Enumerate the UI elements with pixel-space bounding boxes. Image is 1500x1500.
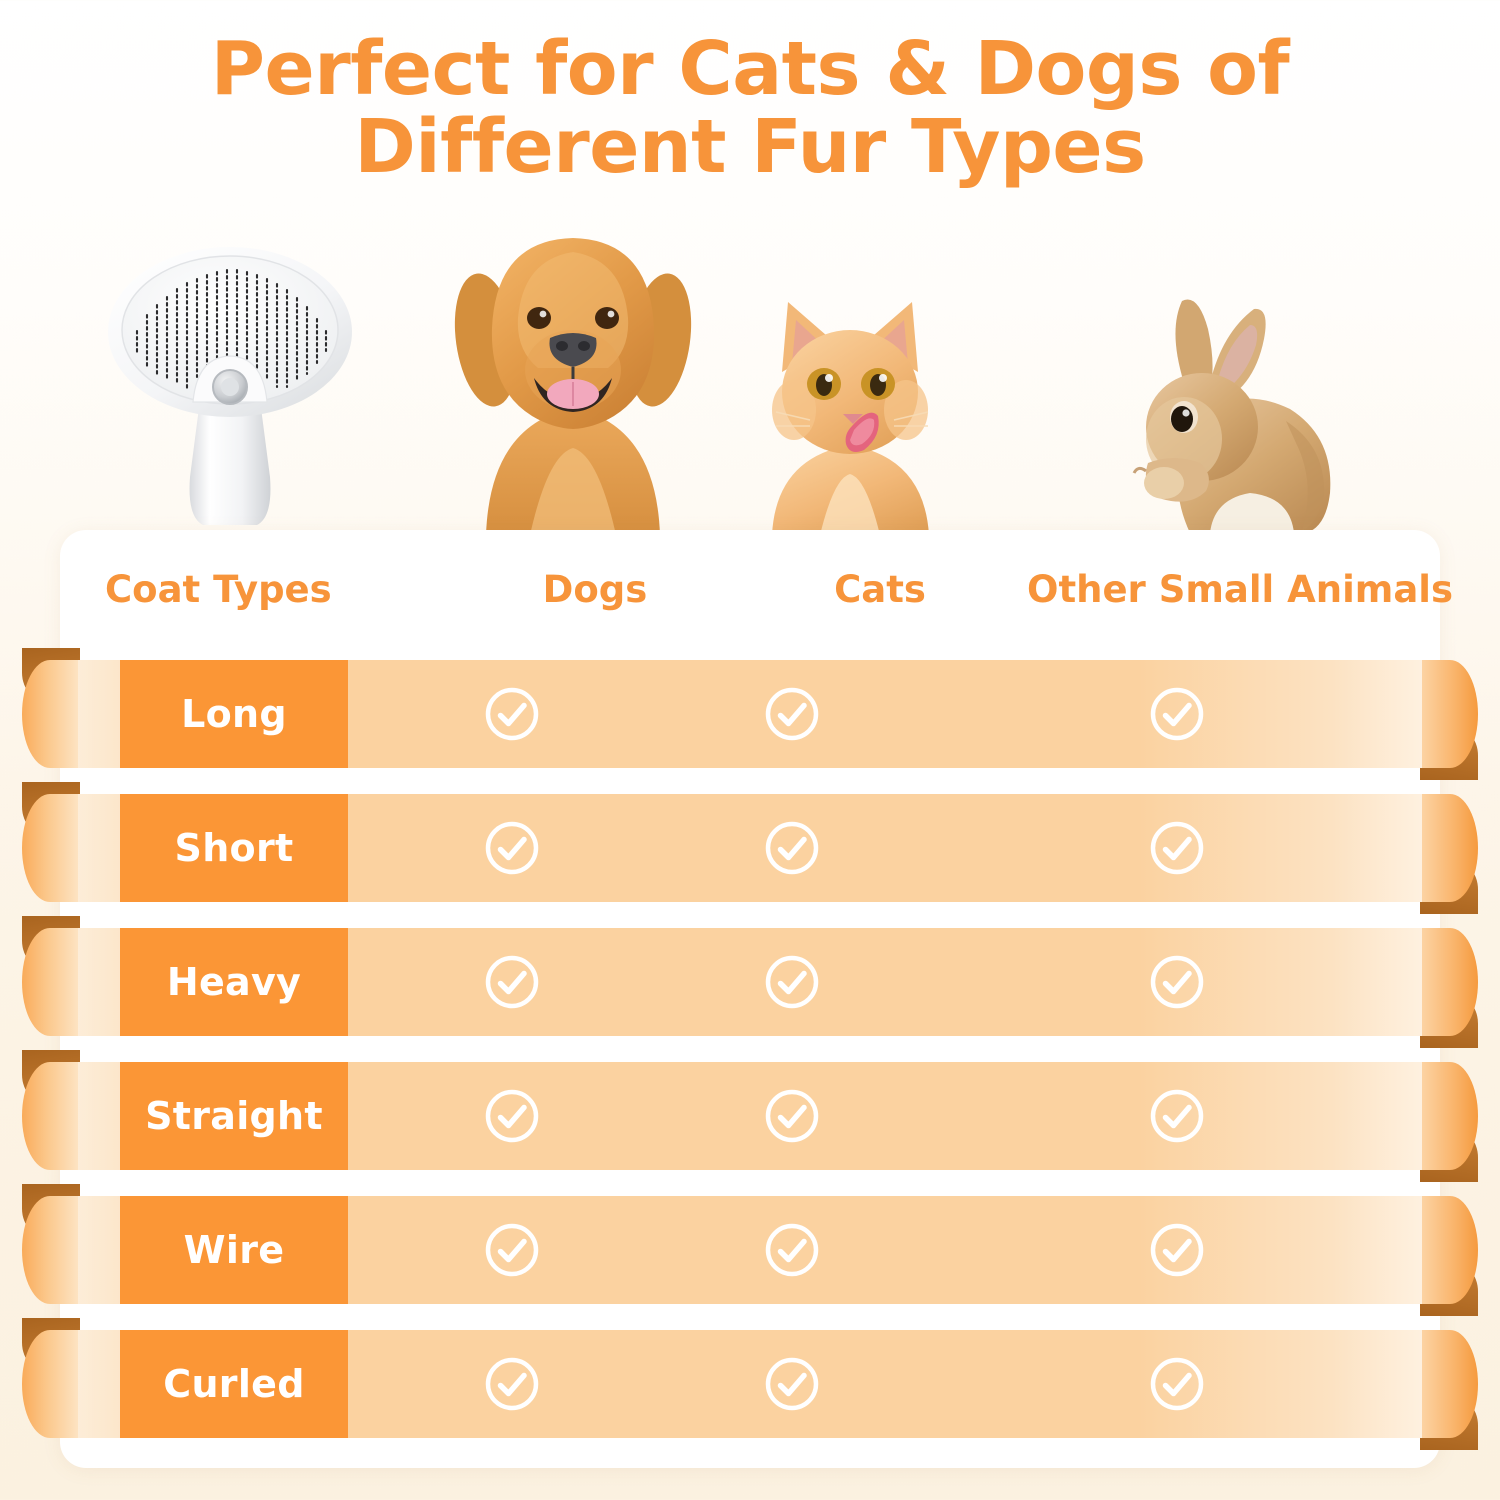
ribbon-band: Long	[58, 660, 1442, 768]
cell-other-small-animals	[1117, 1196, 1237, 1304]
check-circle-icon	[763, 1087, 821, 1145]
row-label-heavy: Heavy	[120, 928, 348, 1036]
check-circle-icon	[483, 1355, 541, 1413]
ribbon-curl-left	[22, 794, 78, 902]
cell-cats	[732, 660, 852, 768]
row-label-wire: Wire	[120, 1196, 348, 1304]
cell-other-small-animals	[1117, 794, 1237, 902]
row-cells	[348, 1196, 1442, 1304]
ribbon-band: Heavy	[58, 928, 1442, 1036]
check-circle-icon	[1148, 685, 1206, 743]
check-circle-icon	[483, 819, 541, 877]
row-label-straight: Straight	[120, 1062, 348, 1170]
check-circle-icon	[763, 1355, 821, 1413]
ribbon-curl-left	[22, 1196, 78, 1304]
cell-cats	[732, 928, 852, 1036]
cell-cats	[732, 1062, 852, 1170]
ribbon-curl-right	[1422, 1062, 1478, 1170]
check-circle-icon	[1148, 953, 1206, 1011]
check-circle-icon	[763, 819, 821, 877]
row-cells	[348, 1330, 1442, 1438]
ribbon-curl-right	[1422, 928, 1478, 1036]
check-circle-icon	[763, 1221, 821, 1279]
ribbon-band: Short	[58, 794, 1442, 902]
row-cells	[348, 928, 1442, 1036]
check-circle-icon	[1148, 819, 1206, 877]
check-circle-icon	[763, 953, 821, 1011]
cell-cats	[732, 1196, 852, 1304]
comparison-table-body: Long Short	[0, 0, 1500, 1500]
check-circle-icon	[483, 953, 541, 1011]
ribbon-band: Curled	[58, 1330, 1442, 1438]
check-circle-icon	[1148, 1221, 1206, 1279]
check-circle-icon	[483, 1221, 541, 1279]
ribbon-band: Straight	[58, 1062, 1442, 1170]
cell-cats	[732, 794, 852, 902]
ribbon-band: Wire	[58, 1196, 1442, 1304]
check-circle-icon	[483, 1087, 541, 1145]
row-cells	[348, 794, 1442, 902]
cell-dogs	[452, 1330, 572, 1438]
table-row: Wire	[0, 1184, 1500, 1316]
cell-dogs	[452, 928, 572, 1036]
ribbon-curl-left	[22, 928, 78, 1036]
ribbon-curl-left	[22, 660, 78, 768]
check-circle-icon	[763, 685, 821, 743]
row-cells	[348, 1062, 1442, 1170]
cell-dogs	[452, 1196, 572, 1304]
check-circle-icon	[483, 685, 541, 743]
cell-other-small-animals	[1117, 660, 1237, 768]
cell-other-small-animals	[1117, 928, 1237, 1036]
table-row: Straight	[0, 1050, 1500, 1182]
row-cells	[348, 660, 1442, 768]
check-circle-icon	[1148, 1355, 1206, 1413]
cell-dogs	[452, 1062, 572, 1170]
cell-dogs	[452, 794, 572, 902]
table-row: Heavy	[0, 916, 1500, 1048]
cell-other-small-animals	[1117, 1062, 1237, 1170]
ribbon-curl-left	[22, 1062, 78, 1170]
cell-other-small-animals	[1117, 1330, 1237, 1438]
cell-cats	[732, 1330, 852, 1438]
ribbon-curl-right	[1422, 1196, 1478, 1304]
table-row: Curled	[0, 1318, 1500, 1450]
row-label-short: Short	[120, 794, 348, 902]
ribbon-curl-right	[1422, 794, 1478, 902]
cell-dogs	[452, 660, 572, 768]
table-row: Short	[0, 782, 1500, 914]
row-label-curled: Curled	[120, 1330, 348, 1438]
ribbon-curl-right	[1422, 1330, 1478, 1438]
row-label-long: Long	[120, 660, 348, 768]
ribbon-curl-right	[1422, 660, 1478, 768]
table-row: Long	[0, 648, 1500, 780]
check-circle-icon	[1148, 1087, 1206, 1145]
ribbon-curl-left	[22, 1330, 78, 1438]
